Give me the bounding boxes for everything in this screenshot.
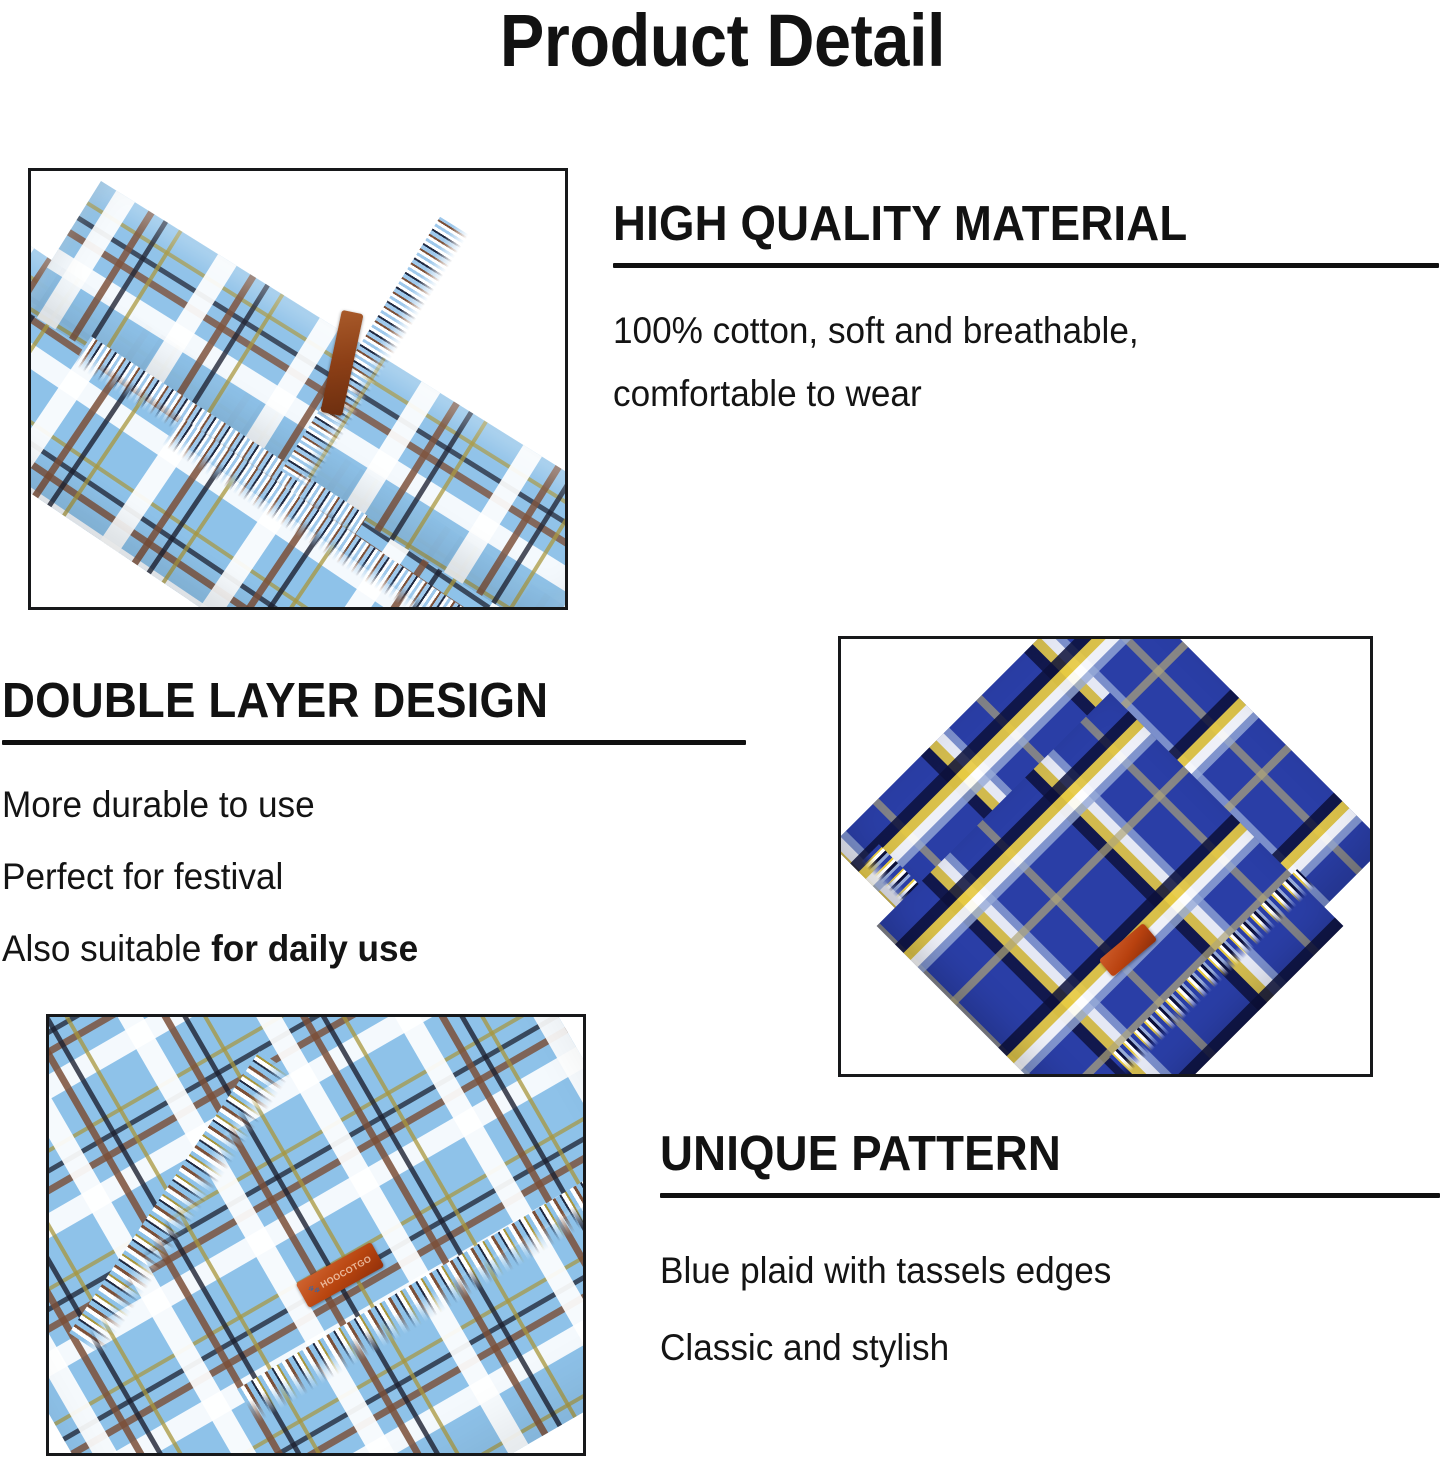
photo-inner: 🐾HOOCOTGO [49, 1017, 583, 1453]
body-line-mixed: Also suitable for daily use [2, 913, 709, 985]
body-line: 100% cotton, soft and breathable, [613, 299, 1398, 362]
body-line-bold-part: for daily use [211, 928, 418, 969]
section-divider-rule [2, 740, 746, 745]
section-body: 100% cotton, soft and breathable, comfor… [613, 299, 1398, 425]
product-detail-page: Product Detail HIGH QUALITY MATERIAL 100… [0, 0, 1445, 1460]
body-line: Perfect for festival [2, 841, 709, 913]
section-double-layer-design: DOUBLE LAYER DESIGN More durable to use … [2, 673, 746, 985]
section-body: More durable to use Perfect for festival… [2, 769, 709, 985]
section-divider-rule [660, 1193, 1440, 1198]
product-photo-blue-bandana[interactable] [838, 636, 1373, 1077]
body-line: Blue plaid with tassels edges [660, 1232, 1401, 1309]
body-line: More durable to use [2, 769, 709, 841]
section-heading: HIGH QUALITY MATERIAL [613, 196, 1381, 252]
section-unique-pattern: UNIQUE PATTERN Blue plaid with tassels e… [660, 1126, 1440, 1386]
section-high-quality-material: HIGH QUALITY MATERIAL 100% cotton, soft … [613, 196, 1439, 425]
product-photo-plaid-corner[interactable]: 🐾HOOCOTGO [46, 1014, 586, 1456]
photo-inner [841, 639, 1370, 1074]
section-divider-rule [613, 263, 1439, 268]
product-photo-fringe-detail[interactable] [28, 168, 568, 610]
body-line: Classic and stylish [660, 1309, 1401, 1386]
page-title: Product Detail [72, 0, 1373, 84]
body-line-regular-part: Also suitable [2, 928, 211, 969]
photo-inner [31, 171, 565, 607]
section-body: Blue plaid with tassels edges Classic an… [660, 1232, 1401, 1386]
section-heading: UNIQUE PATTERN [660, 1126, 1385, 1182]
section-heading: DOUBLE LAYER DESIGN [2, 673, 694, 729]
body-line: comfortable to wear [613, 362, 1398, 425]
